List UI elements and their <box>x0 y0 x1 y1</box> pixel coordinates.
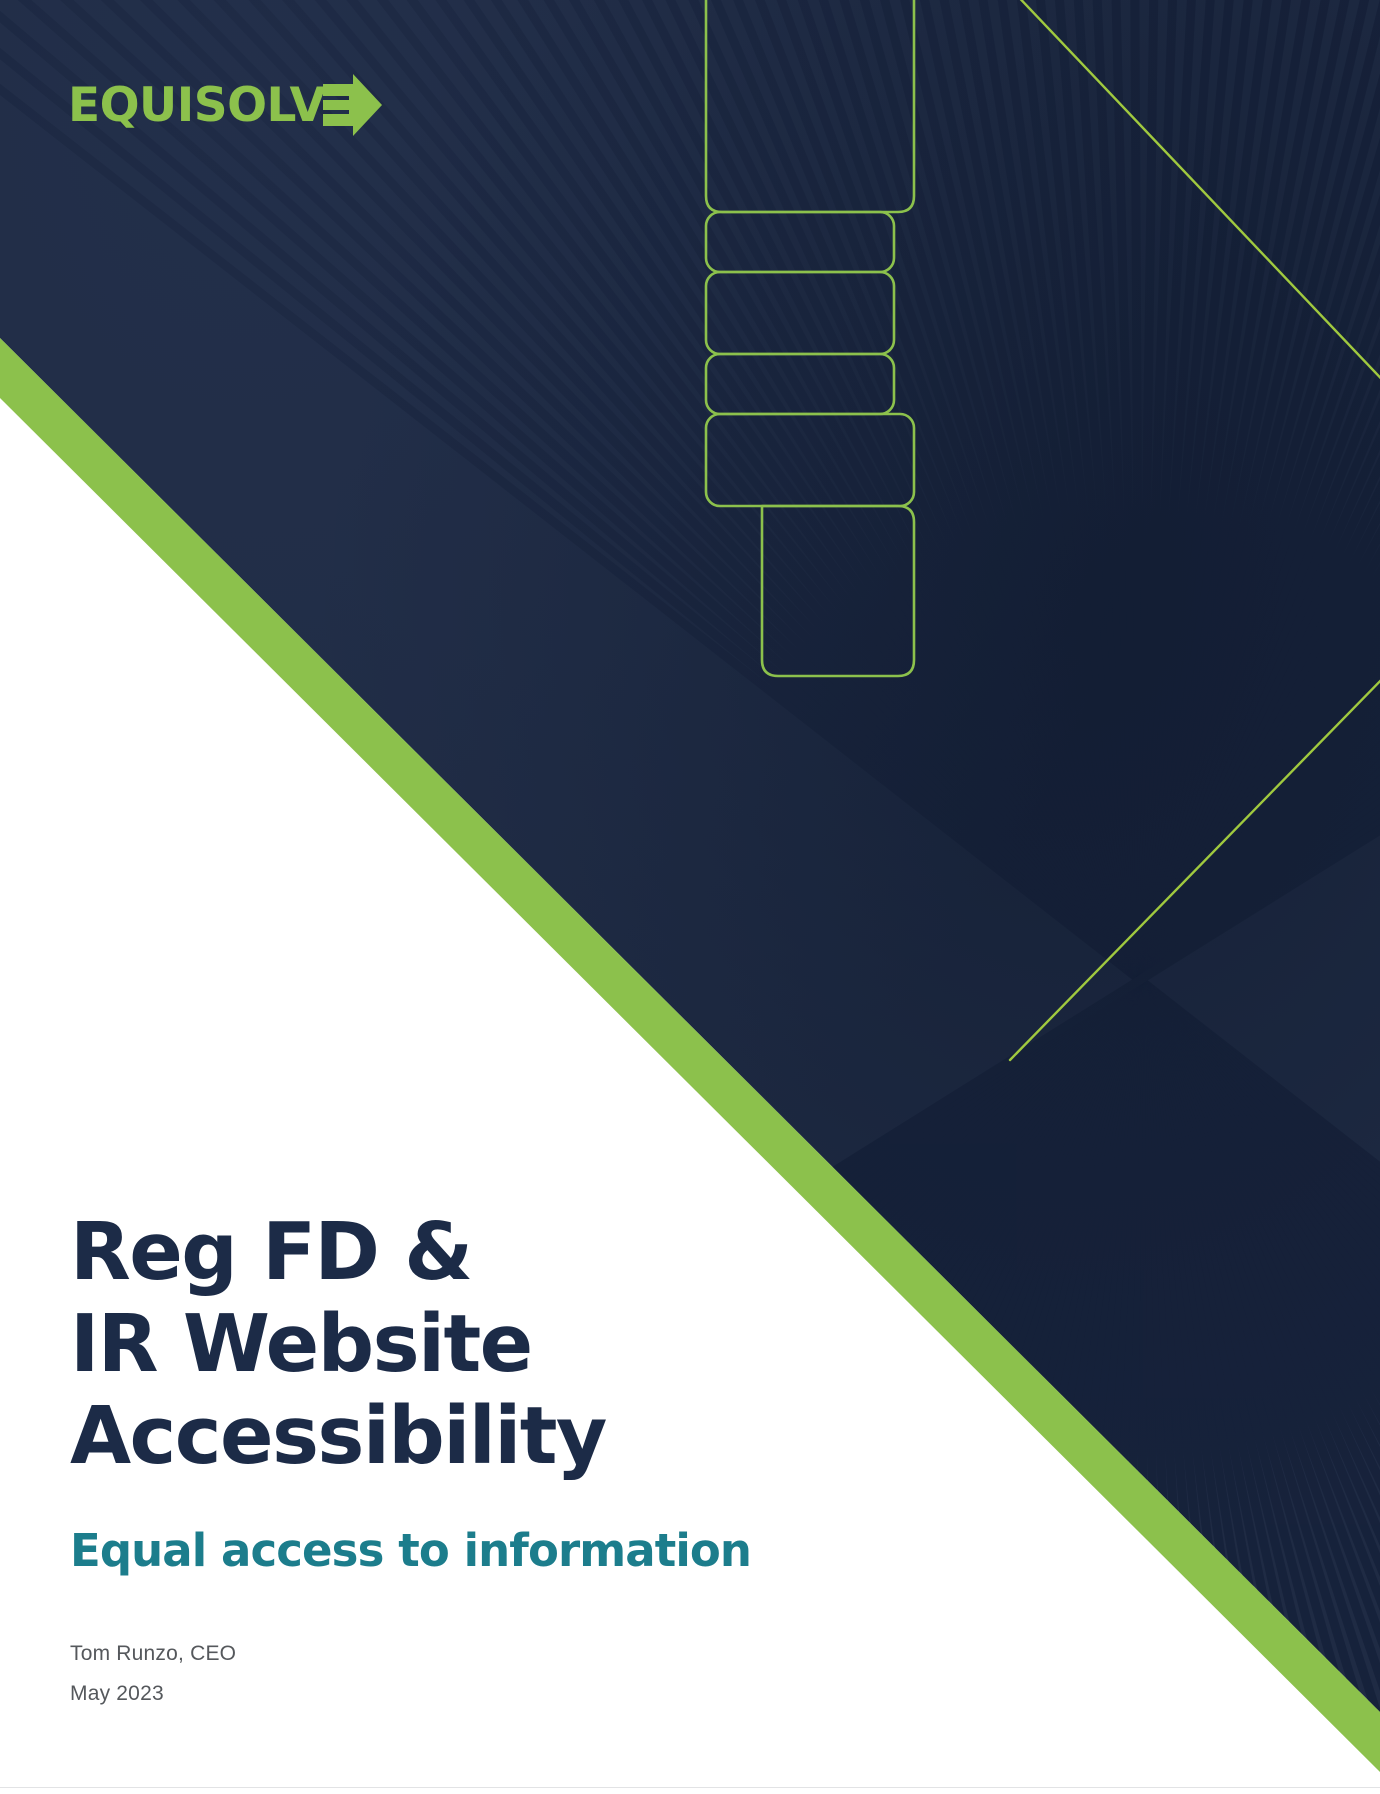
equisolve-arrow-e-icon <box>323 74 383 136</box>
page-subtitle: Equal access to information <box>70 1524 970 1578</box>
equisolve-logo[interactable]: EQUISOLV <box>68 74 383 136</box>
cover-title-block: Reg FD & IR Website Accessibility Equal … <box>70 1207 970 1714</box>
accent-ray-lower <box>1010 630 1380 1060</box>
page-bottom-edge <box>0 1787 1380 1788</box>
large-outlined-arrow-e-icon <box>706 0 914 676</box>
accent-ray-upper <box>1010 0 1380 430</box>
brand-wordmark: EQUISOLV <box>68 82 325 129</box>
cover-page: EQUISOLV Reg FD & IR Website Accessibili… <box>0 0 1380 1794</box>
author-byline: Tom Runzo, CEO <box>70 1634 970 1674</box>
accent-ray-lines <box>1010 0 1380 1060</box>
page-title: Reg FD & IR Website Accessibility <box>70 1207 970 1482</box>
publication-date: May 2023 <box>70 1674 970 1714</box>
